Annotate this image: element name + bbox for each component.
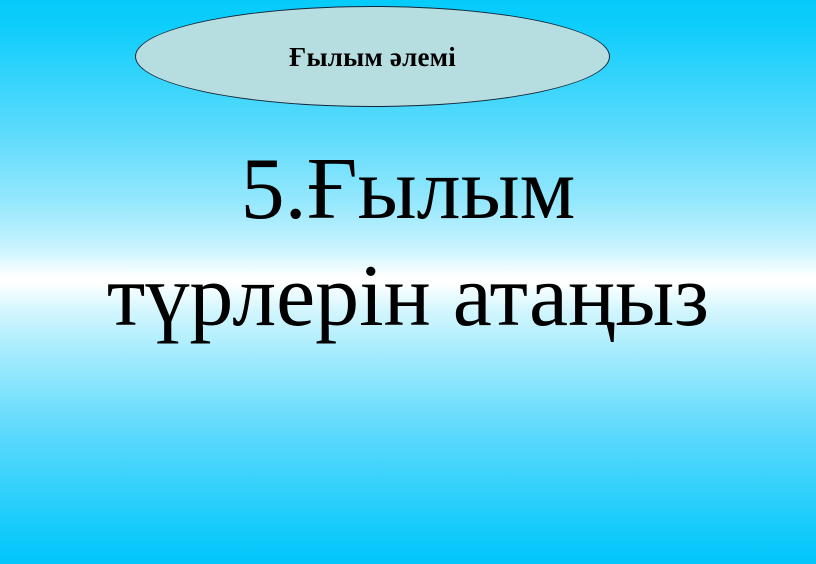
body-line-2: түрлерін атаңыз [0, 253, 816, 341]
body-line-1: 5.Ғылым [0, 146, 816, 234]
presentation-slide: Ғылым әлемі 5.Ғылым түрлерін атаңыз [0, 0, 816, 564]
slide-body-text: 5.Ғылым түрлерін атаңыз [0, 146, 816, 341]
title-banner-label: Ғылым әлемі [289, 44, 456, 71]
title-banner-ellipse: Ғылым әлемі [135, 6, 610, 107]
